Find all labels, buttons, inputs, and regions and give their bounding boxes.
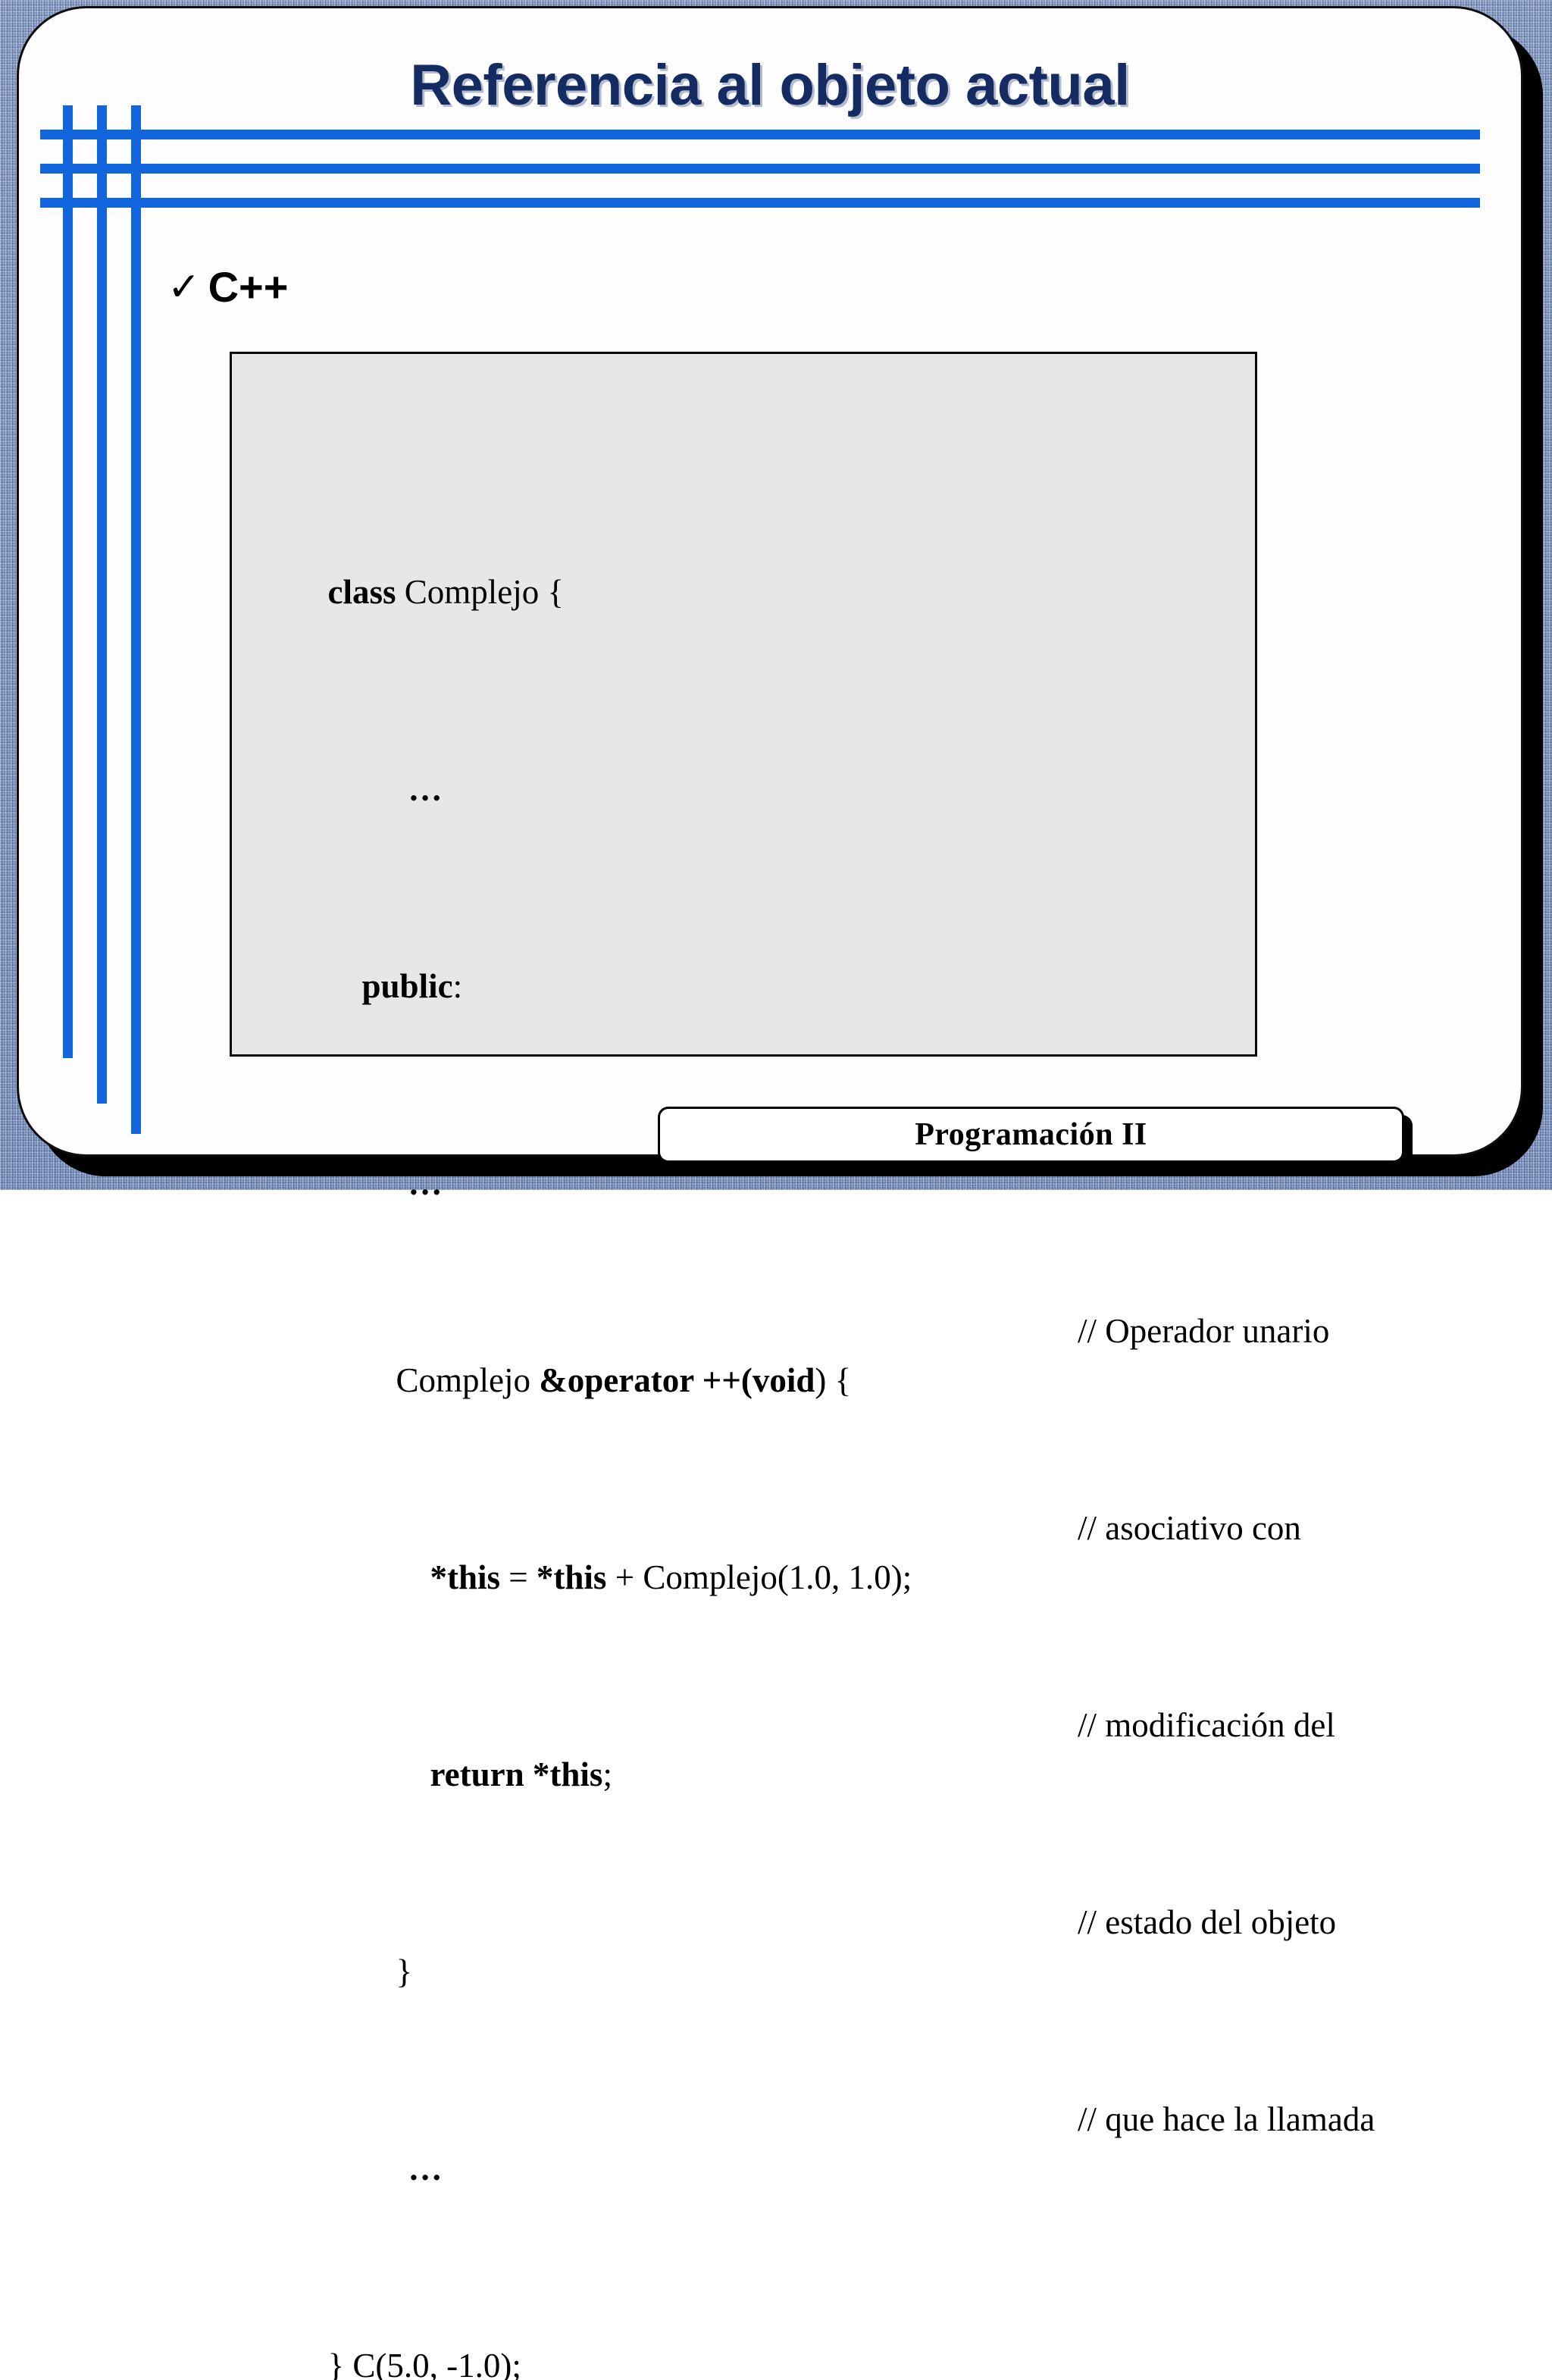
- check-icon: ✓: [167, 268, 201, 307]
- code-line: …: [242, 716, 1255, 765]
- code-text: } C(5.0, -1.0);: [328, 2341, 521, 2380]
- code-listing: class Complejo { … public: … Complejo &o…: [232, 354, 1255, 2380]
- decorative-line-h1: [40, 130, 1480, 139]
- code-line: } C(5.0, -1.0);: [242, 2292, 1255, 2341]
- code-comment: // asociativo con: [1078, 1504, 1301, 1553]
- code-comment: // Operador unario: [1078, 1307, 1329, 1356]
- code-line: public:: [242, 913, 1255, 962]
- slide-card: Referencia al objeto actual ✓ C++ class …: [17, 6, 1523, 1157]
- page-title: Referencia al objeto actual: [19, 52, 1521, 118]
- decorative-line-v1: [63, 105, 73, 1058]
- code-comment: // que hace la llamada: [1078, 2095, 1375, 2144]
- decorative-line-h3: [40, 198, 1480, 208]
- slide-background: Referencia al objeto actual ✓ C++ class …: [0, 0, 1552, 1190]
- code-line: return *this; // modificación del: [242, 1701, 1255, 1750]
- code-comment: // estado del objeto: [1078, 1898, 1336, 1947]
- decorative-line-v3: [131, 105, 141, 1134]
- decorative-line-h2: [40, 164, 1480, 174]
- code-line: } // estado del objeto: [242, 1898, 1255, 1947]
- code-line: *this = *this + Complejo(1.0, 1.0); // a…: [242, 1504, 1255, 1553]
- bullet-label: C++: [208, 266, 289, 308]
- footer-label: Programación II: [915, 1116, 1147, 1153]
- code-panel: class Complejo { … public: … Complejo &o…: [230, 352, 1257, 1057]
- footer-plate: Programación II: [658, 1107, 1404, 1163]
- code-comment: // modificación del: [1078, 1701, 1335, 1750]
- bullet-row: ✓ C++: [167, 266, 288, 308]
- code-line: class Complejo {: [242, 518, 1255, 568]
- decorative-line-v2: [97, 105, 107, 1104]
- code-line: Complejo &operator ++(void) { // Operado…: [242, 1307, 1255, 1356]
- code-line: … // que hace la llamada: [242, 2095, 1255, 2144]
